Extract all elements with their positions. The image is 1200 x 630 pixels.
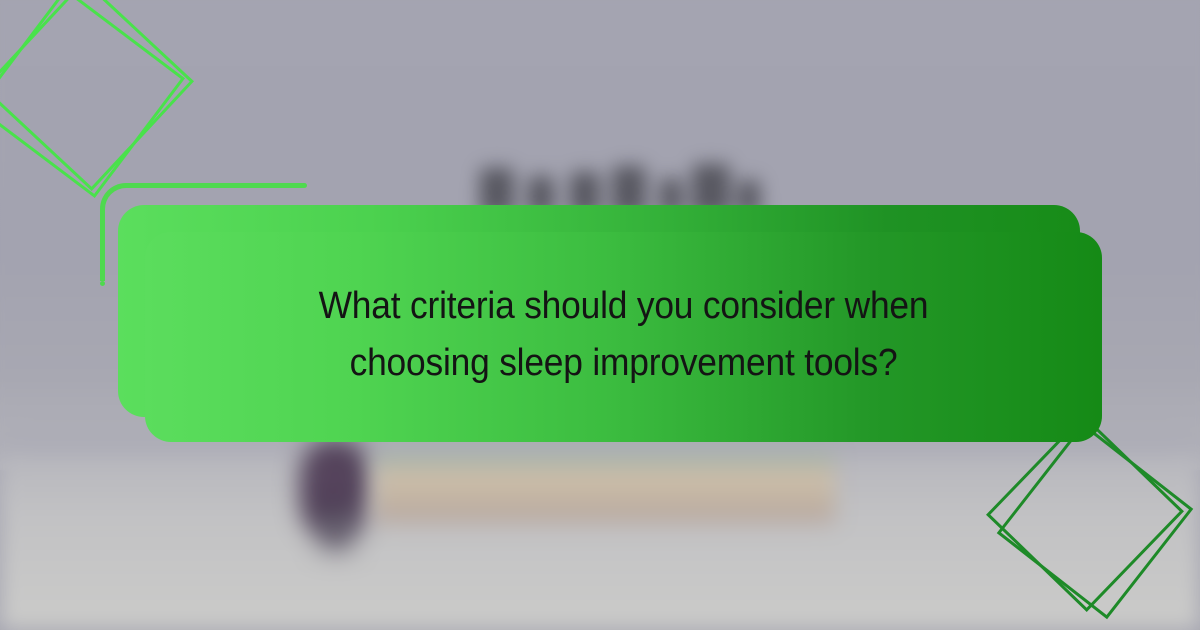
social-card-canvas: What criteria should you consider when c… bbox=[0, 0, 1200, 630]
question-card: What criteria should you consider when c… bbox=[145, 232, 1102, 442]
headline-line-1: What criteria should you consider when bbox=[178, 278, 1068, 335]
headline-line-2: choosing sleep improvement tools? bbox=[178, 335, 1068, 392]
page-title: What criteria should you consider when c… bbox=[178, 278, 1068, 396]
